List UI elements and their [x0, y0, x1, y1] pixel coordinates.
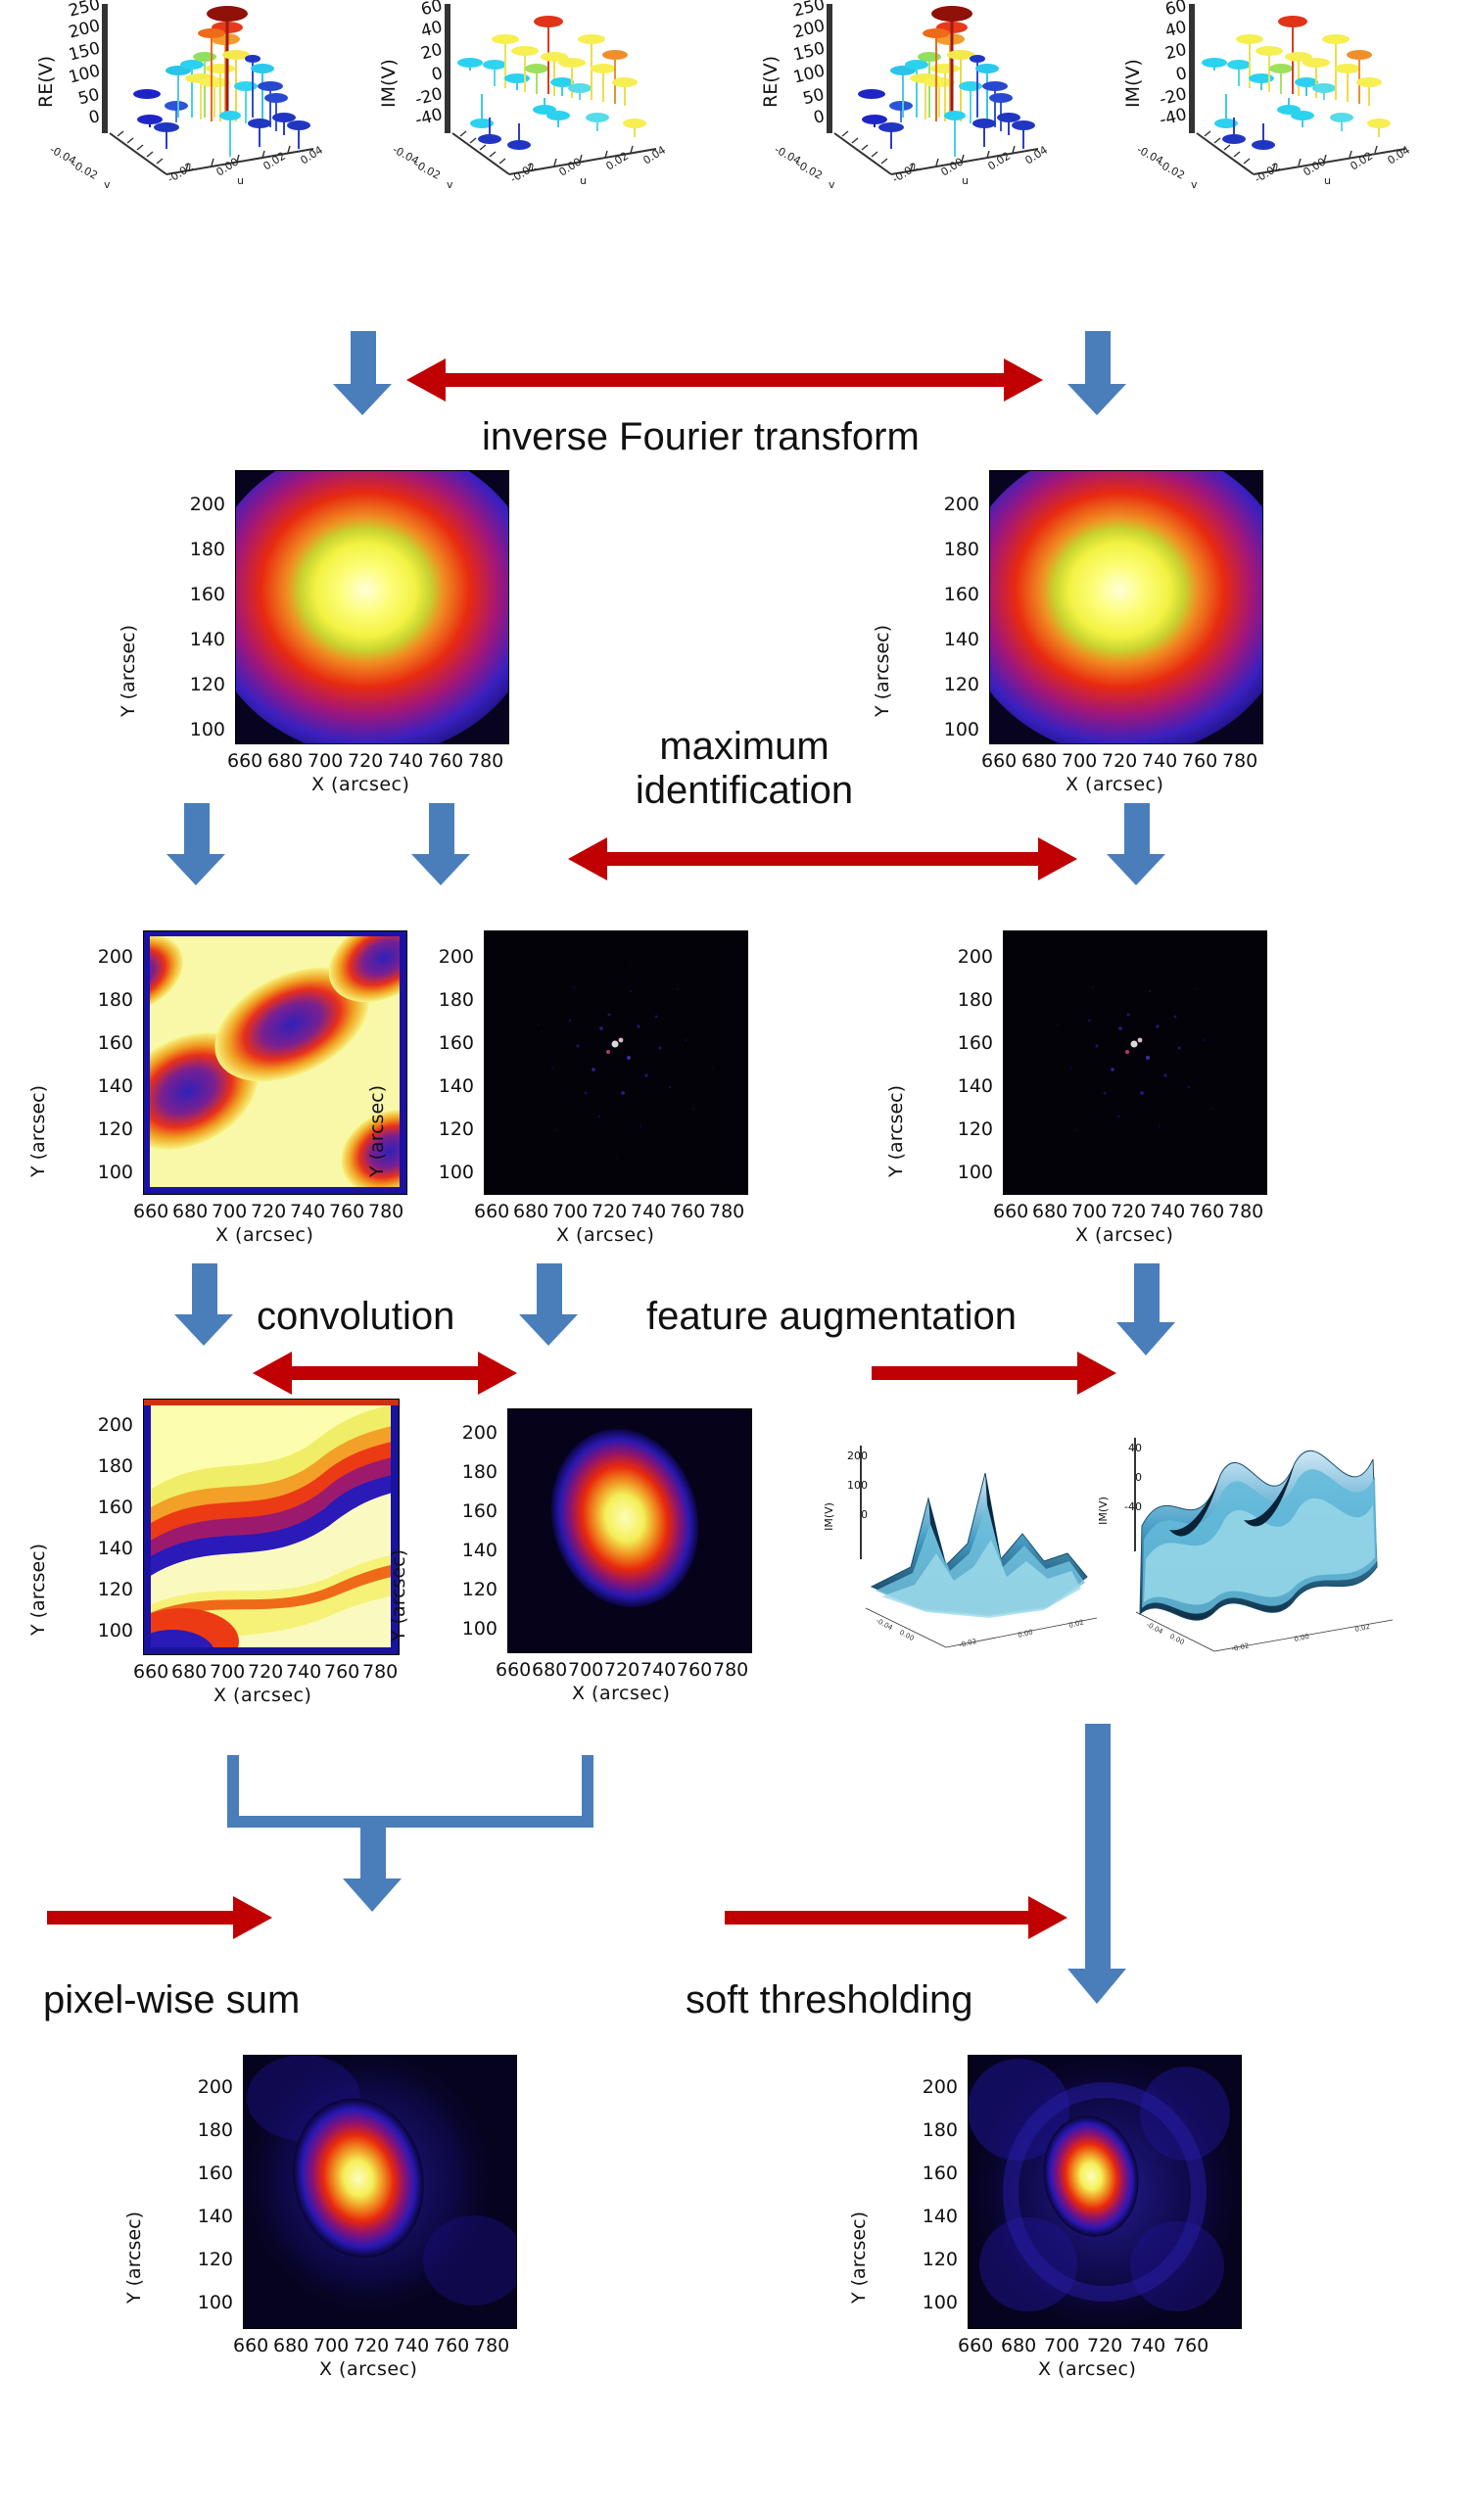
visibility-plot-imag-augmented: IM(V) 60 40 20 0 -20 -40 — [1107, 0, 1430, 196]
u-axis-label: u — [962, 174, 969, 187]
arrow-down-to-maxima-right — [1107, 803, 1165, 887]
y-tick-labels: 200 180 160 140 120 100 — [149, 2047, 237, 2331]
label-maximum-line1: maximum — [588, 725, 901, 769]
arrow-down-to-maxima-left — [411, 803, 470, 887]
label-inverse-fourier-transform: inverse Fourier transform — [482, 415, 920, 459]
label-identification-line2: identification — [588, 769, 901, 813]
v-axis-label: v — [447, 178, 453, 191]
visibility-plot-real-measured: RE(V) 250 200 150 100 50 0 — [20, 0, 333, 196]
x-axis-title: X (arcsec) — [311, 774, 409, 795]
label-soft-thresholding: soft thresholding — [686, 1978, 973, 2022]
y-tick-labels: 200 180 160 140 120 100 — [874, 2047, 962, 2331]
u-axis-label: u — [1324, 174, 1331, 187]
svg-text:0.02: 0.02 — [1068, 1618, 1085, 1630]
x-tick-labels: 660 680 700 720 740 760 780 — [235, 750, 509, 774]
x-tick-labels: 660 680 700 720 740 760 780 — [484, 1201, 748, 1224]
x-tick-labels: 660 680 700 720 740 760 — [968, 2335, 1242, 2358]
pixelwise-sum-result-figure: Y (arcsec) 200 180 160 140 120 100 — [98, 2047, 529, 2370]
arrow-down-convolution-left — [174, 1263, 233, 1348]
dirty-map-right-image — [989, 470, 1263, 744]
arrow-down-ift-right — [1067, 331, 1126, 415]
arrow-right-feature-augmentation — [872, 1352, 1116, 1397]
x-axis-title: X (arcsec) — [556, 1224, 654, 1246]
arrow-right-soft-thresholding — [725, 1896, 1067, 1941]
y-tick-labels: 200 180 160 140 120 100 — [390, 921, 478, 1205]
join-bracket-pixelwise-sum — [227, 1755, 593, 1828]
y-tick-labels: 200 180 160 140 120 100 — [141, 460, 229, 744]
arrow-down-to-psf — [166, 803, 225, 887]
maxima-map-left-figure: Y (arcsec) 200 180 160 140 120 100 — [343, 921, 754, 1244]
svg-text:0.00: 0.00 — [1168, 1633, 1186, 1646]
label-pixel-wise-sum: pixel-wise sum — [43, 1978, 300, 2022]
x-axis-title: X (arcsec) — [1066, 774, 1163, 795]
visibility-plot-real-augmented: RE(V) 250 200 150 100 50 0 — [744, 0, 1058, 196]
y-axis-title: Y (arcsec) — [388, 1549, 409, 1641]
svg-text:0.02: 0.02 — [1354, 1623, 1371, 1634]
y-tick-labels: 200 180 160 140 120 100 — [413, 1401, 501, 1671]
y-tick-labels: 200 180 160 140 120 100 — [49, 921, 137, 1205]
y-axis-title: Y (arcsec) — [366, 1085, 388, 1177]
svg-text:0.00: 0.00 — [1294, 1633, 1310, 1643]
arrow-down-convolution-mid — [519, 1263, 578, 1348]
y-axis-title: Y (arcsec) — [27, 1544, 49, 1636]
arrow-down-pixelwise-sum — [343, 1816, 402, 1914]
svg-text:-0.04: -0.04 — [875, 1617, 894, 1633]
svg-text:-0.02: -0.02 — [959, 1638, 978, 1649]
label-convolution: convolution — [257, 1295, 454, 1339]
x-axis-title: X (arcsec) — [213, 1685, 311, 1706]
pixelwise-sum-result-image — [243, 2055, 517, 2329]
arrow-double-inverse-fourier — [406, 358, 1043, 404]
convolved-source-image — [507, 1408, 752, 1653]
maxima-map-right-figure: Y (arcsec) 200 180 160 140 120 100 — [862, 921, 1273, 1244]
arrow-right-pixelwise-sum — [47, 1896, 272, 1941]
u-axis-label: u — [580, 174, 587, 187]
arrow-down-feature-augmentation — [1116, 1263, 1175, 1357]
convolved-beam-figure: Y (arcsec) 200 180 160 140 120 100 — [10, 1391, 402, 1704]
visibility-plot-imag-measured: IM(V) 60 40 20 0 -20 -40 — [362, 0, 676, 196]
dirty-map-left-figure: Y (arcsec) 200 180 160 140 120 100 — [98, 460, 519, 784]
x-axis-title: X (arcsec) — [572, 1683, 670, 1704]
augmented-surface-real-figure: 200 100 0 IM(V) -0.04 0.00 -0.02 0.00 0.… — [813, 1440, 1107, 1685]
y-tick-labels: 200 180 160 140 120 100 — [909, 921, 997, 1205]
arrow-down-soft-thresholding — [1067, 1724, 1126, 2008]
dirty-map-right-figure: Y (arcsec) 200 180 160 140 120 100 660 6… — [852, 460, 1273, 784]
svg-text:-0.04: -0.04 — [1145, 1621, 1164, 1637]
x-tick-labels: 660 680 700 720 740 760 780 — [1003, 1201, 1267, 1224]
augmented-surface-real-image: -0.04 0.00 -0.02 0.00 0.02 — [852, 1440, 1107, 1685]
v-axis-label: v — [104, 178, 111, 191]
svg-text:0.00: 0.00 — [898, 1629, 916, 1642]
arrow-double-maximum-identification — [568, 837, 1077, 882]
dirty-map-left-image — [235, 470, 509, 744]
y-axis-title: Y (arcsec) — [118, 625, 139, 717]
convolved-beam-image — [143, 1399, 400, 1655]
y-axis-title: Y (arcsec) — [885, 1085, 907, 1177]
y-axis-title: IM(V) — [823, 1502, 835, 1531]
x-tick-labels: 660 680 700 720 740 760 780 — [243, 2335, 517, 2358]
y-axis-title: IM(V) — [1097, 1497, 1110, 1525]
y-axis-title: Y (arcsec) — [872, 625, 893, 717]
y-axis-title: Y (arcsec) — [27, 1085, 49, 1177]
x-axis-title: X (arcsec) — [319, 2358, 417, 2380]
x-axis-title: X (arcsec) — [1075, 1224, 1173, 1246]
v-axis-label: v — [829, 178, 835, 191]
x-axis-title: X (arcsec) — [1038, 2358, 1136, 2380]
x-tick-labels: 660 680 700 720 740 760 780 — [989, 750, 1263, 774]
convolved-source-figure: Y (arcsec) 200 180 160 140 120 100 660 6… — [362, 1401, 774, 1714]
x-tick-labels: 660 680 700 720 740 760 780 — [143, 1661, 400, 1685]
svg-text:-0.02: -0.02 — [1231, 1641, 1250, 1653]
maxima-map-left-image — [484, 930, 748, 1195]
y-tick-labels: 200 180 160 140 120 100 — [895, 460, 983, 744]
augmented-surface-imag-figure: 40 0 -40 IM(V) -0.04 0.00 -0.02 0.00 0.0… — [1087, 1420, 1400, 1675]
y-axis-title: Y (arcsec) — [848, 2211, 870, 2304]
y-axis-title: Y (arcsec) — [123, 2211, 145, 2304]
augmented-surface-imag-image: -0.04 0.00 -0.02 0.00 0.02 — [1126, 1420, 1400, 1675]
v-axis-label: v — [1191, 178, 1198, 191]
label-maximum-identification: maximum identification — [588, 725, 901, 813]
x-axis-title: X (arcsec) — [215, 1224, 313, 1246]
arrow-down-ift-left — [333, 331, 392, 415]
x-tick-labels: 660 680 700 720 740 760 780 — [507, 1659, 752, 1683]
soft-threshold-result-figure: Y (arcsec) 200 180 160 140 120 100 660 6… — [823, 2047, 1254, 2370]
svg-text:0.00: 0.00 — [1018, 1628, 1034, 1640]
u-axis-label: u — [237, 174, 244, 187]
soft-threshold-result-image — [968, 2055, 1242, 2329]
y-tick-labels: 200 180 160 140 120 100 — [49, 1391, 137, 1665]
label-feature-augmentation: feature augmentation — [646, 1295, 1017, 1339]
maxima-map-right-image — [1003, 930, 1267, 1195]
